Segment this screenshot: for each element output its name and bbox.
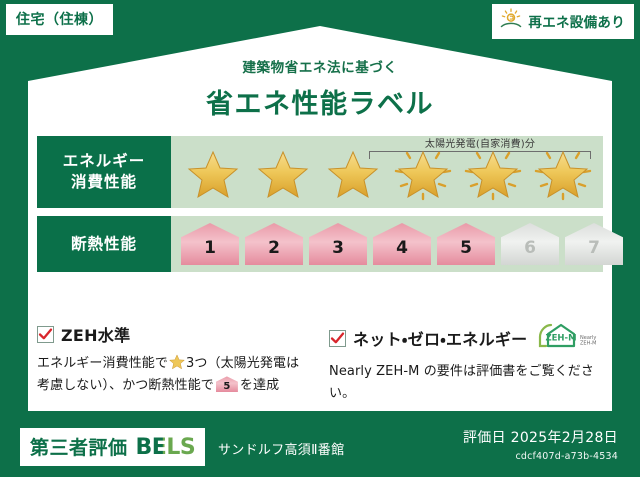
evaluation-date: 評価日 2025年2月28日 — [463, 427, 618, 447]
grade-value: 6 — [501, 223, 559, 265]
grade-item: 1 — [181, 223, 239, 265]
energy-performance-row: エネルギー 消費性能 太陽光発電(自家消費)分 — [37, 136, 603, 208]
title-block: 建築物省エネ法に基づく 省エネ性能ラベル — [0, 56, 640, 121]
grade-item: 2 — [245, 223, 303, 265]
star-item — [181, 146, 245, 204]
energy-label-line2: 消費性能 — [71, 172, 137, 193]
criteria-zeh-level: ZEH水準 エネルギー消費性能で3つ（太陽光発電は考慮しない）、かつ断熱性能で5… — [37, 322, 311, 406]
page-title: 省エネ性能ラベル — [0, 82, 640, 121]
bels-en-label: BELS — [136, 435, 196, 460]
checkmark-icon — [329, 330, 346, 347]
grade-item-inactive: 7 — [565, 223, 623, 265]
zeh-m-logo: ZEH-M Nearly ZEH-M — [536, 322, 598, 354]
bels-badge: 第三者評価 BELS — [20, 428, 205, 466]
star-item-solar — [461, 146, 525, 204]
insulation-grade-scale: 1 2 3 4 5 — [171, 223, 623, 265]
footer: 第三者評価 BELS サンドルフ高須Ⅱ番館 評価日 2025年2月28日 cdc… — [0, 415, 640, 477]
criteria-body-part3: を達成 — [240, 378, 279, 393]
grade-item: 4 — [373, 223, 431, 265]
insulation-performance-row: 断熱性能 1 2 3 — [37, 216, 603, 272]
checkmark-icon — [37, 326, 54, 343]
grade-value: 2 — [245, 223, 303, 265]
star-item-solar — [531, 146, 595, 204]
inline-grade-badge: 5 — [216, 376, 238, 392]
energy-row-content: 太陽光発電(自家消費)分 — [171, 136, 603, 208]
star-item-solar — [391, 146, 455, 204]
star-item — [251, 146, 315, 204]
insulation-row-content: 1 2 3 4 5 — [171, 216, 623, 272]
grade-item: 3 — [309, 223, 367, 265]
criteria-header: ネット・ゼロ・エネルギー ZEH-M Nearly ZEH-M — [329, 322, 603, 354]
inline-grade-value: 5 — [216, 376, 238, 392]
energy-label-line1: エネルギー — [63, 151, 146, 172]
grade-item: 5 — [437, 223, 495, 265]
renewable-badge-label: 再エネ設備あり — [528, 11, 625, 31]
evaluation-id: cdcf407d-a73b-4534 — [463, 451, 618, 462]
grade-value: 3 — [309, 223, 367, 265]
performance-rows: エネルギー 消費性能 太陽光発電(自家消費)分 — [37, 136, 603, 272]
building-name: サンドルフ高須Ⅱ番館 — [218, 439, 344, 458]
star-rating — [171, 146, 595, 204]
criteria-body-part1: エネルギー消費性能で — [37, 356, 168, 371]
insulation-row-label: 断熱性能 — [37, 216, 171, 272]
criteria-area: ZEH水準 エネルギー消費性能で3つ（太陽光発電は考慮しない）、かつ断熱性能で5… — [37, 322, 603, 406]
grade-value: 7 — [565, 223, 623, 265]
insulation-label-text: 断熱性能 — [71, 234, 137, 255]
grade-item-inactive: 6 — [501, 223, 559, 265]
criteria-body: エネルギー消費性能で3つ（太陽光発電は考慮しない）、かつ断熱性能で5を達成 — [37, 353, 311, 398]
renewable-energy-badge: 再エネ設備あり — [492, 4, 634, 39]
grade-value: 5 — [437, 223, 495, 265]
category-tag: 住宅（住棟） — [6, 4, 113, 35]
star-icon — [169, 354, 185, 370]
criteria-header: ZEH水準 — [37, 322, 311, 346]
bels-jp-label: 第三者評価 — [30, 433, 128, 460]
criteria-title: ZEH水準 — [61, 322, 130, 346]
sunrise-icon — [499, 8, 523, 34]
svg-text:ZEH-M: ZEH-M — [580, 341, 596, 347]
energy-row-label: エネルギー 消費性能 — [37, 136, 171, 208]
grade-value: 4 — [373, 223, 431, 265]
energy-performance-label: 住宅（住棟） 再エネ設備あり 建築物省エネ法に基づく 省エネ性能ラベル — [0, 0, 640, 477]
star-item — [321, 146, 385, 204]
evaluation-info: 評価日 2025年2月28日 cdcf407d-a73b-4534 — [463, 427, 618, 462]
grade-value: 1 — [181, 223, 239, 265]
svg-text:ZEH-M: ZEH-M — [546, 334, 577, 344]
criteria-title: ネット・ゼロ・エネルギー — [353, 326, 527, 350]
criteria-net-zero-energy: ネット・ゼロ・エネルギー ZEH-M Nearly ZEH-M Nearly Z… — [329, 322, 603, 406]
title-subtitle: 建築物省エネ法に基づく — [0, 56, 640, 76]
criteria-body: Nearly ZEH-M の要件は評価書をご覧ください。 — [329, 361, 603, 406]
